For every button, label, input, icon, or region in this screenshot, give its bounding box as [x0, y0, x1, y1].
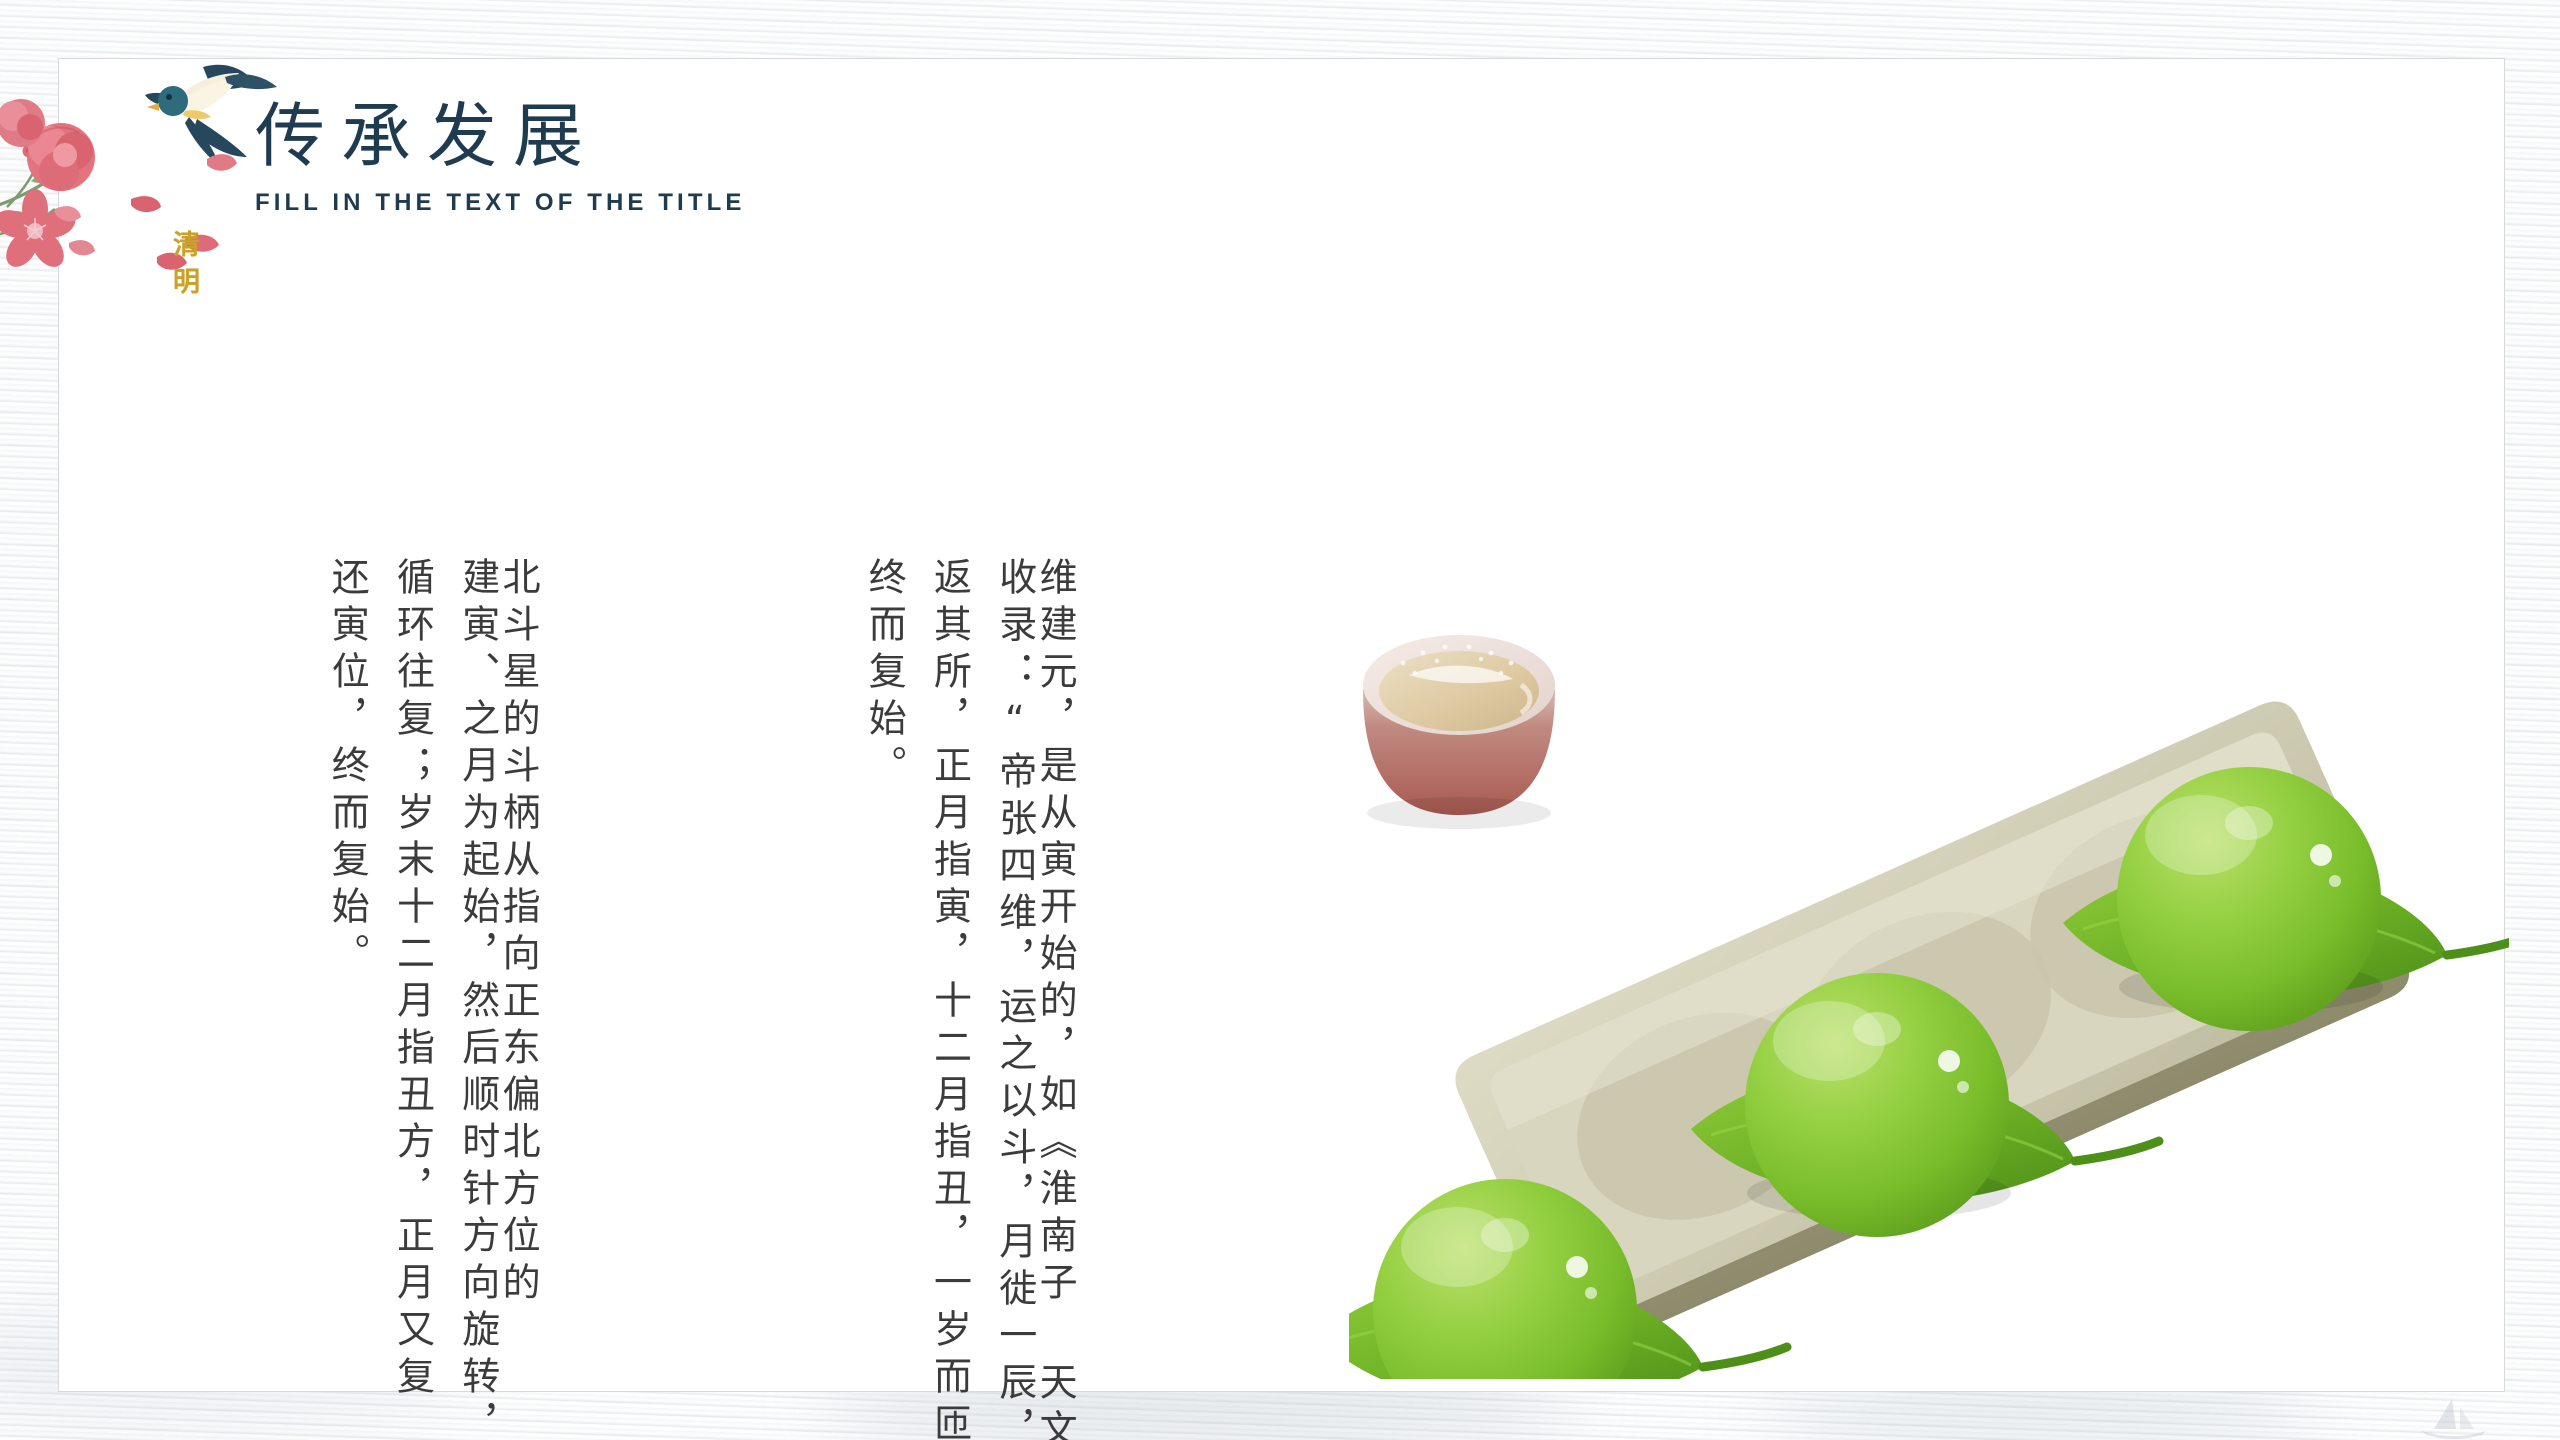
vertical-line: 终而复始。	[864, 557, 904, 792]
title-english: FILL IN THE TEXT OF THE TITLE	[255, 189, 745, 217]
tea-liquid	[1379, 651, 1539, 731]
vertical-line: 还寅位，终而复始。	[327, 557, 367, 980]
page-title: 传承发展 FILL IN THE TEXT OF THE TITLE	[255, 97, 745, 217]
qingtuan-dumpling	[2117, 767, 2381, 1031]
bamboo-leaf	[1349, 1275, 1703, 1379]
vertical-line: 建寅、之月为起始，然后顺时针方向旋转，	[458, 557, 498, 1440]
qingtuan-unit-2	[1691, 973, 2159, 1237]
beidou-explanation-block: 北斗星的斗柄从指向正东偏北方位的 建寅、之月为起始，然后顺时针方向旋转， 循环往…	[302, 557, 538, 1440]
tea-bowl	[1363, 635, 1555, 829]
vertical-line: 收录：“帝张四维，运之以斗，月徙一辰，复	[995, 557, 1035, 1440]
slide-card: 清明 传承发展 FILL IN THE TEXT OF THE TITLE 维建…	[58, 58, 2505, 1392]
huainanzi-quote-block: 维建元，是从寅开始的，如《淮南子 天文训》 收录：“帝张四维，运之以斗，月徙一辰…	[839, 557, 1075, 1440]
qingtuan-dumpling	[1745, 973, 2009, 1237]
slide-canvas: 清明 传承发展 FILL IN THE TEXT OF THE TITLE 维建…	[0, 0, 2560, 1440]
vertical-line: 返其所，正月指寅，十二月指丑，一岁而匝，	[929, 557, 969, 1440]
title-chinese: 传承发展	[255, 97, 745, 175]
qingtuan-unit-1	[1349, 1179, 1787, 1379]
vertical-line: 维建元，是从寅开始的，如《淮南子 天文训》	[1035, 557, 1075, 1440]
qingtuan-unit-3	[2063, 767, 2509, 1031]
serving-tray	[1447, 693, 2418, 1360]
vertical-line: 循环往复；岁末十二月指丑方，正月又复	[392, 557, 432, 1403]
qingtuan-dumpling	[1373, 1179, 1637, 1379]
qingming-seal: 清明	[164, 227, 210, 302]
bamboo-leaf	[2063, 863, 2447, 996]
qingtuan-plate-illustration	[1349, 619, 2509, 1379]
vertical-line: 北斗星的斗柄从指向正东偏北方位的	[498, 557, 538, 1309]
sailboat-ink-mark	[2400, 1395, 2510, 1440]
bamboo-leaf	[1691, 1069, 2075, 1202]
